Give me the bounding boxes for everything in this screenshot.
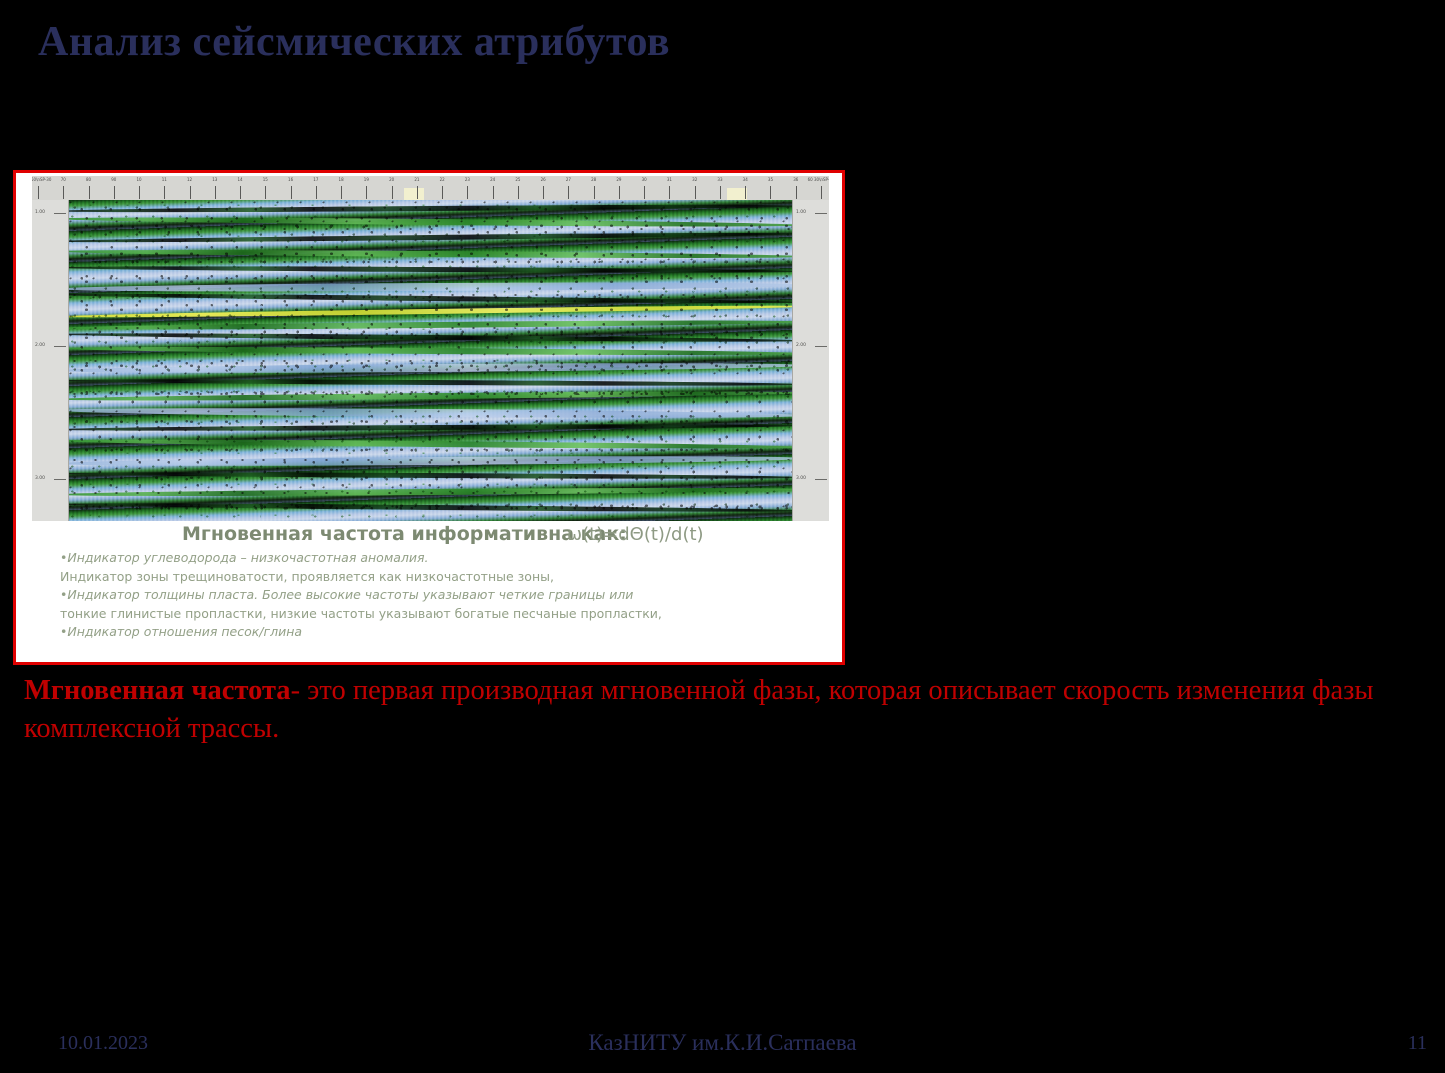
ruler-tick [38,186,39,199]
ruler-tick [164,186,165,199]
ruler-tick-label: 27 [566,177,571,182]
depth-tick [54,213,66,214]
ruler-tick [543,186,544,199]
ruler-tick-label: 19 [364,177,369,182]
body-paragraph-lead: Мгновенная частота [24,675,291,706]
ruler-tick-label: 80 [86,177,91,182]
ruler-tick-label: 33 [717,177,722,182]
ruler-tick-label: 20 [389,177,394,182]
ruler-highlight-marker-2 [727,188,747,200]
ruler-tick-label: 23 [465,177,470,182]
depth-axis-label: 1.00 [796,210,806,215]
depth-axis-label: 1.00 [35,210,45,215]
ruler-tick-label: 12 [187,177,192,182]
ruler-tick [316,186,317,199]
ruler-tick [669,186,670,199]
ruler-tick-label: 24 [490,177,495,182]
ruler-tick [215,186,216,199]
ruler-tick-label: 36 [793,177,798,182]
depth-tick [54,479,66,480]
ruler-tick-label: 10 [136,177,141,182]
depth-tick [815,479,827,480]
ruler-highlight-marker-1 [404,188,424,200]
ruler-tick [265,186,266,199]
ruler-tick-label: 34 [743,177,748,182]
ruler-tick-label: 50 50\nSP-30 [32,177,51,182]
ruler-tick-label: 16 [288,177,293,182]
ruler-tick-label: 90 [111,177,116,182]
footer-organization: КазНИТУ им.К.И.Сатпаева [0,1030,1445,1056]
ruler-tick [493,186,494,199]
ruler-tick [467,186,468,199]
seismic-left-depth-axis: 1.002.003.00 [32,200,69,521]
ruler-tick-label: 14 [238,177,243,182]
ruler-tick [619,186,620,199]
caption-bullet-1: •Индикатор углеводорода – низкочастотная… [32,549,832,568]
ruler-tick-label: 28 [591,177,596,182]
ruler-tick [821,186,822,199]
page-title: Анализ сейсмических атрибутов [38,18,670,66]
depth-axis-label: 2.00 [796,343,806,348]
seismic-right-depth-axis: 1.002.003.00 [792,200,829,521]
seismic-caption-block: Мгновенная частота информативна как: ω(t… [32,523,832,642]
ruler-tick-label: 32 [692,177,697,182]
ruler-tick [796,186,797,199]
seismic-section-image: 50 50\nSP-307080901011121314151617181920… [32,176,829,521]
ruler-tick [745,186,746,199]
caption-bullet-5: •Индикатор отношения песок/глина [32,623,832,642]
ruler-tick-label: 35 [768,177,773,182]
seismic-noise-layer [69,200,792,521]
ruler-tick [240,186,241,199]
ruler-tick [644,186,645,199]
ruler-tick [341,186,342,199]
caption-heading: Мгновенная частота информативна как: [182,523,627,545]
ruler-tick-label: 26 [541,177,546,182]
caption-bullet-2: Индикатор зоны трещиноватости, проявляет… [32,568,832,587]
caption-formula: ω(t)=dΘ(t)/d(t) [567,524,704,545]
ruler-tick-label: 31 [667,177,672,182]
ruler-tick-label: 11 [162,177,167,182]
ruler-tick-label: 18 [339,177,344,182]
ruler-tick-label: 21 [414,177,419,182]
seismic-data-canvas [69,200,792,521]
ruler-tick [518,186,519,199]
ruler-tick [594,186,595,199]
ruler-tick-label: 25 [515,177,520,182]
ruler-tick [568,186,569,199]
depth-tick [815,346,827,347]
caption-bullet-3: •Индикатор толщины пласта. Более высокие… [32,586,832,605]
ruler-tick [63,186,64,199]
ruler-tick [720,186,721,199]
ruler-tick-label: 70 [61,177,66,182]
ruler-tick [190,186,191,199]
ruler-tick [291,186,292,199]
depth-tick [815,213,827,214]
seismic-picture-frame: 50 50\nSP-307080901011121314151617181920… [13,170,845,665]
body-paragraph: Мгновенная частота- это первая производн… [24,672,1394,748]
depth-tick [54,346,66,347]
footer-page-number: 11 [1408,1032,1427,1055]
ruler-tick [392,186,393,199]
depth-axis-label: 3.00 [35,476,45,481]
ruler-tick-label: 60 30\nSP-30 [808,177,829,182]
ruler-tick-label: 22 [440,177,445,182]
ruler-tick-label: 15 [263,177,268,182]
ruler-tick [695,186,696,199]
ruler-tick [89,186,90,199]
caption-bullet-4: тонкие глинистые пропластки, низкие част… [32,605,832,624]
ruler-tick [770,186,771,199]
ruler-tick-label: 29 [616,177,621,182]
ruler-tick [366,186,367,199]
depth-axis-label: 2.00 [35,343,45,348]
depth-axis-label: 3.00 [796,476,806,481]
ruler-tick-label: 30 [642,177,647,182]
ruler-tick-label: 17 [313,177,318,182]
ruler-tick-label: 13 [212,177,217,182]
seismic-top-ruler: 50 50\nSP-307080901011121314151617181920… [32,176,829,201]
ruler-tick [417,186,418,199]
ruler-tick [114,186,115,199]
ruler-tick [139,186,140,199]
ruler-tick [442,186,443,199]
